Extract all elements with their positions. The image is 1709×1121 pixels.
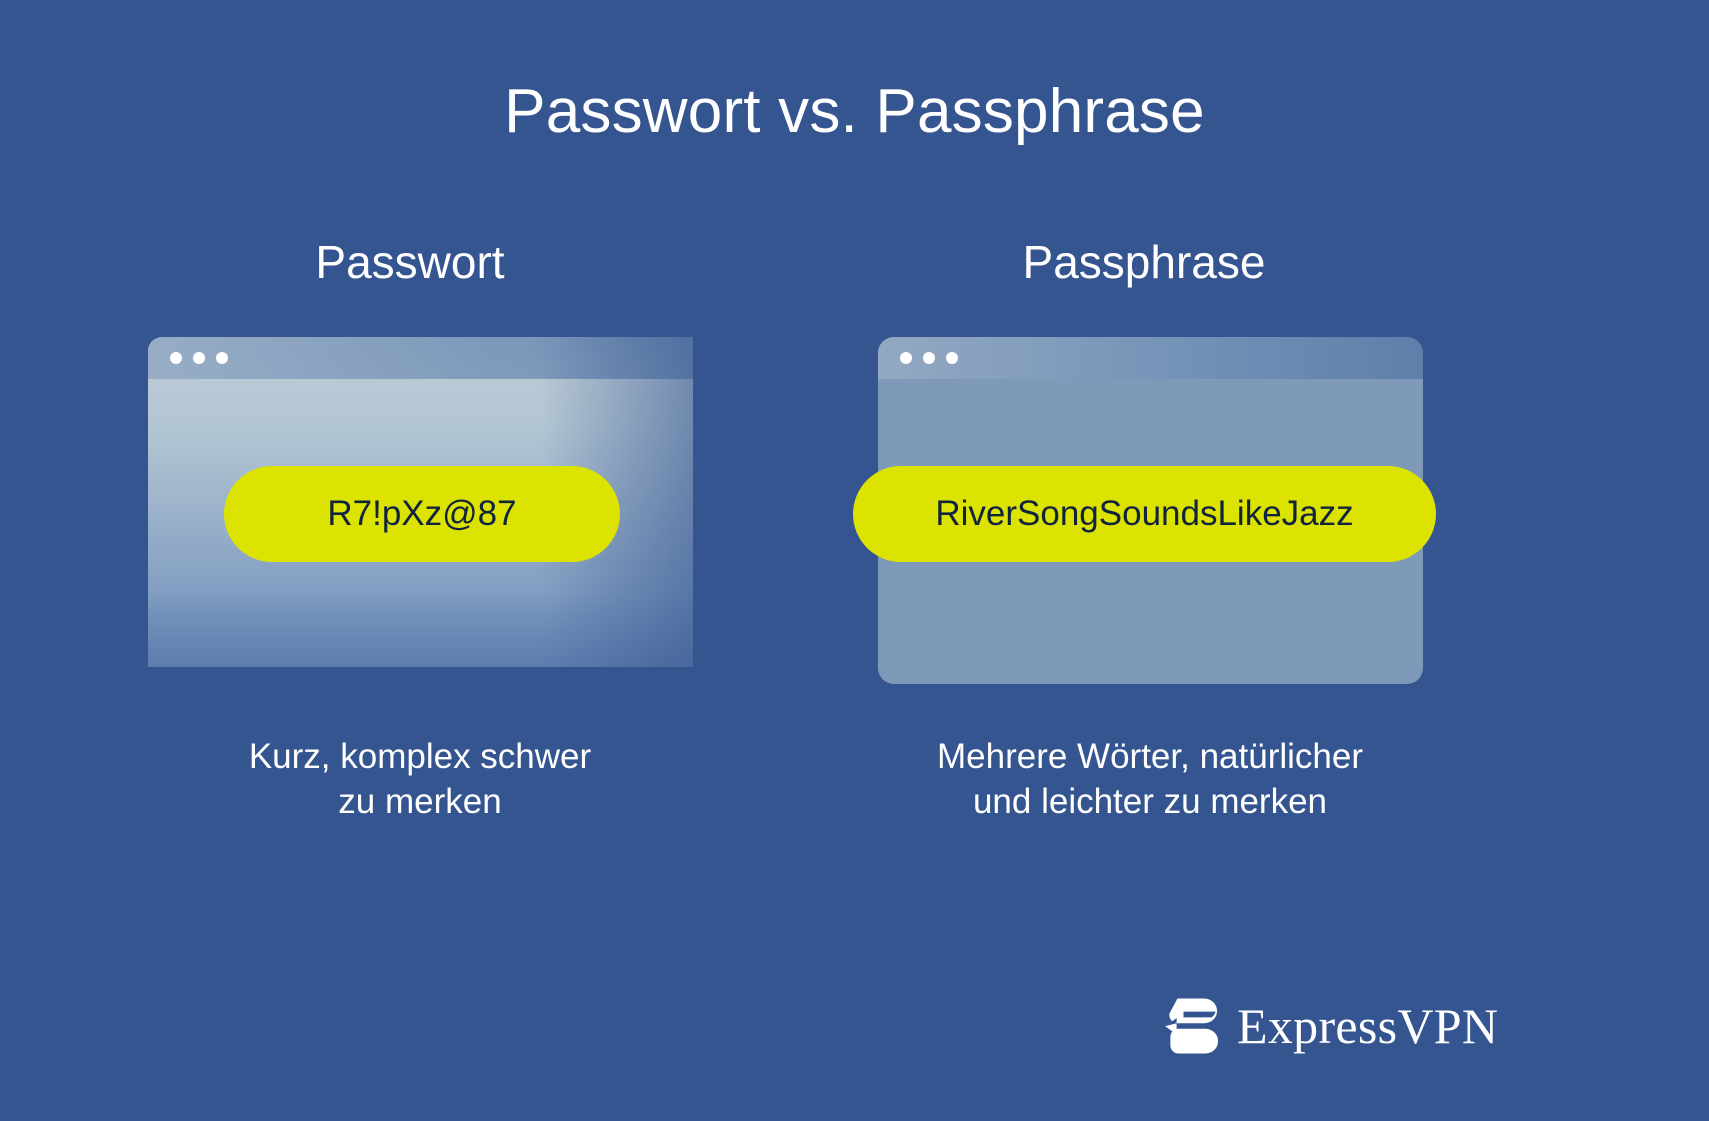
infographic-canvas: Passwort vs. Passphrase Passwort Passphr… (0, 0, 1709, 1121)
expressvpn-wordmark: ExpressVPN (1237, 1001, 1498, 1051)
window-dot-icon (216, 352, 228, 364)
caption-line: und leichter zu merken (860, 780, 1440, 825)
window-dot-icon (193, 352, 205, 364)
window-titlebar (878, 337, 1423, 379)
caption-password: Kurz, komplex schwer zu merken (140, 735, 700, 825)
window-dot-icon (900, 352, 912, 364)
caption-line: zu merken (140, 780, 700, 825)
expressvpn-logo: ExpressVPN (1163, 996, 1498, 1056)
window-traffic-lights (170, 352, 228, 364)
window-titlebar (148, 337, 693, 379)
window-dot-icon (946, 352, 958, 364)
page-title: Passwort vs. Passphrase (0, 78, 1709, 146)
caption-line: Kurz, komplex schwer (140, 735, 700, 780)
caption-passphrase: Mehrere Wörter, natürlicher und leichter… (860, 735, 1440, 825)
column-heading-password: Passwort (150, 236, 670, 289)
caption-line: Mehrere Wörter, natürlicher (860, 735, 1440, 780)
window-dot-icon (923, 352, 935, 364)
window-dot-icon (170, 352, 182, 364)
password-pill: R7!pXz@87 (224, 466, 620, 562)
window-traffic-lights (900, 352, 958, 364)
column-heading-passphrase: Passphrase (884, 236, 1404, 289)
expressvpn-e-logo-icon (1163, 996, 1219, 1056)
passphrase-pill: RiverSongSoundsLikeJazz (853, 466, 1436, 562)
